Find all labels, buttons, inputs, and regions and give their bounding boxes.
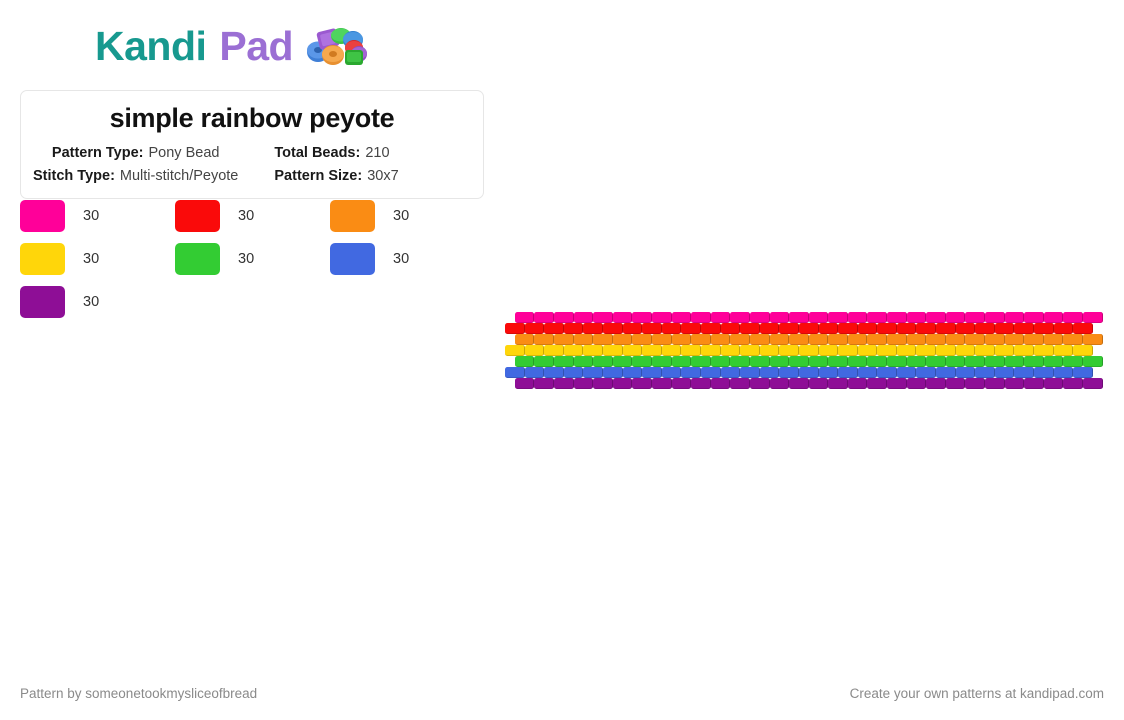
- bead: [1083, 378, 1103, 389]
- bead: [691, 378, 711, 389]
- bead: [632, 356, 652, 367]
- bead: [1063, 356, 1083, 367]
- bead: [730, 356, 750, 367]
- meta-stitch-type-label: Stitch Type:: [33, 168, 115, 184]
- legend-count-pink: 30: [83, 208, 99, 224]
- bead: [936, 323, 956, 334]
- bead: [642, 323, 662, 334]
- bead: [574, 356, 594, 367]
- bead: [936, 345, 956, 356]
- color-swatch-pink: [20, 200, 65, 232]
- bead: [799, 345, 819, 356]
- meta-stitch-type-value: Multi-stitch/Peyote: [120, 168, 238, 184]
- bead: [642, 367, 662, 378]
- bead: [554, 356, 574, 367]
- legend-item-orange: 30: [330, 200, 480, 232]
- bead: [701, 367, 721, 378]
- bead: [985, 356, 1005, 367]
- bead: [809, 334, 829, 345]
- bead: [593, 378, 613, 389]
- bead: [662, 323, 682, 334]
- bead: [721, 323, 741, 334]
- bead: [593, 356, 613, 367]
- bead: [613, 378, 633, 389]
- bead: [730, 378, 750, 389]
- bead: [1063, 312, 1083, 323]
- bead: [985, 378, 1005, 389]
- meta-pattern-size-label: Pattern Size:: [274, 168, 362, 184]
- bead: [1014, 323, 1034, 334]
- bead: [946, 356, 966, 367]
- legend-count-blue: 30: [393, 251, 409, 267]
- bead: [956, 367, 976, 378]
- bead-row: [515, 378, 1103, 389]
- bead: [613, 334, 633, 345]
- bead: [848, 334, 868, 345]
- bead: [662, 367, 682, 378]
- bead: [926, 378, 946, 389]
- bead: [946, 378, 966, 389]
- bead: [1073, 323, 1093, 334]
- bead: [858, 345, 878, 356]
- legend-item-blue: 30: [330, 243, 480, 275]
- bead: [1054, 345, 1074, 356]
- bead: [887, 334, 907, 345]
- bead: [838, 367, 858, 378]
- bead: [828, 312, 848, 323]
- legend-count-orange: 30: [393, 208, 409, 224]
- bead: [770, 334, 790, 345]
- meta-total-beads: Total Beads: 210: [252, 145, 471, 161]
- bead: [887, 312, 907, 323]
- bead: [515, 378, 535, 389]
- bead: [760, 345, 780, 356]
- color-swatch-yellow: [20, 243, 65, 275]
- bead: [730, 312, 750, 323]
- bead: [515, 312, 535, 323]
- bead: [711, 356, 731, 367]
- bead: [907, 334, 927, 345]
- bead: [505, 345, 525, 356]
- bead: [867, 312, 887, 323]
- bead: [505, 367, 525, 378]
- bead: [897, 345, 917, 356]
- bead: [740, 323, 760, 334]
- bead: [691, 356, 711, 367]
- bead: [809, 356, 829, 367]
- bead: [956, 323, 976, 334]
- bead: [1005, 312, 1025, 323]
- bead: [1063, 378, 1083, 389]
- bead: [603, 367, 623, 378]
- bead: [789, 378, 809, 389]
- bead: [995, 367, 1015, 378]
- bead: [1014, 345, 1034, 356]
- bead: [1044, 334, 1064, 345]
- legend-item-yellow: 30: [20, 243, 175, 275]
- bead: [1005, 334, 1025, 345]
- bead: [838, 345, 858, 356]
- bead: [652, 334, 672, 345]
- bead: [711, 312, 731, 323]
- bead: [721, 345, 741, 356]
- bead: [672, 356, 692, 367]
- bead: [544, 345, 564, 356]
- bead: [789, 356, 809, 367]
- bead: [632, 312, 652, 323]
- bead: [1044, 356, 1064, 367]
- bead: [965, 334, 985, 345]
- bead: [858, 323, 878, 334]
- bead: [750, 356, 770, 367]
- bead: [672, 312, 692, 323]
- bead: [789, 312, 809, 323]
- bead: [515, 356, 535, 367]
- bead: [1014, 367, 1034, 378]
- bead: [711, 378, 731, 389]
- footer-promo[interactable]: Create your own patterns at kandipad.com: [850, 686, 1104, 701]
- bead: [652, 312, 672, 323]
- legend-count-green: 30: [238, 251, 254, 267]
- bead: [789, 334, 809, 345]
- bead-row: [505, 323, 1103, 334]
- color-legend: 30303030303030: [20, 200, 480, 318]
- bead: [887, 378, 907, 389]
- bead: [525, 345, 545, 356]
- bead: [632, 378, 652, 389]
- bead: [779, 345, 799, 356]
- bead: [544, 323, 564, 334]
- bead: [1024, 334, 1044, 345]
- bead: [623, 323, 643, 334]
- color-swatch-green: [175, 243, 220, 275]
- bead: [975, 367, 995, 378]
- bead: [916, 367, 936, 378]
- bead: [701, 323, 721, 334]
- bead: [534, 312, 554, 323]
- bead: [867, 378, 887, 389]
- bead: [985, 334, 1005, 345]
- bead: [1024, 378, 1044, 389]
- bead: [691, 334, 711, 345]
- bead: [848, 312, 868, 323]
- legend-count-yellow: 30: [83, 251, 99, 267]
- bead: [858, 367, 878, 378]
- bead: [838, 323, 858, 334]
- bead: [985, 312, 1005, 323]
- bead: [1044, 312, 1064, 323]
- footer-credit: Pattern by someonetookmysliceofbread: [20, 686, 257, 701]
- bead: [574, 378, 594, 389]
- bead: [593, 312, 613, 323]
- bead: [907, 312, 927, 323]
- bead: [907, 356, 927, 367]
- bead-row: [515, 356, 1103, 367]
- meta-stitch-type: Stitch Type: Multi-stitch/Peyote: [33, 168, 252, 184]
- bead: [681, 345, 701, 356]
- bead: [750, 312, 770, 323]
- bead: [975, 345, 995, 356]
- bead: [642, 345, 662, 356]
- color-swatch-purple: [20, 286, 65, 318]
- bead: [809, 378, 829, 389]
- bead-pile-icon: [305, 24, 367, 68]
- bead: [652, 356, 672, 367]
- meta-pattern-size: Pattern Size: 30x7: [252, 168, 471, 184]
- bead: [525, 367, 545, 378]
- bead: [652, 378, 672, 389]
- legend-item-green: 30: [175, 243, 330, 275]
- bead: [1044, 378, 1064, 389]
- bead: [916, 323, 936, 334]
- bead: [867, 334, 887, 345]
- bead: [593, 334, 613, 345]
- bead: [681, 367, 701, 378]
- meta-pattern-type-value: Pony Bead: [149, 145, 220, 161]
- bead: [926, 312, 946, 323]
- bead: [779, 323, 799, 334]
- bead-row: [515, 334, 1103, 345]
- bead-pattern-grid: [505, 312, 1103, 389]
- bead: [819, 367, 839, 378]
- bead: [799, 323, 819, 334]
- bead: [750, 334, 770, 345]
- bead: [564, 345, 584, 356]
- bead: [554, 334, 574, 345]
- meta-pattern-type: Pattern Type: Pony Bead: [33, 145, 252, 161]
- legend-count-red: 30: [238, 208, 254, 224]
- meta-total-beads-value: 210: [365, 145, 389, 161]
- bead-row: [505, 345, 1103, 356]
- bead: [534, 378, 554, 389]
- bead: [564, 323, 584, 334]
- bead: [740, 367, 760, 378]
- bead: [730, 334, 750, 345]
- pattern-meta-grid: Pattern Type: Pony Bead Total Beads: 210…: [33, 145, 471, 184]
- bead: [1054, 367, 1074, 378]
- bead: [603, 345, 623, 356]
- bead: [965, 356, 985, 367]
- bead: [613, 312, 633, 323]
- bead: [691, 312, 711, 323]
- bead: [946, 312, 966, 323]
- logo-text-pad: Pad: [219, 26, 293, 67]
- bead: [750, 378, 770, 389]
- page-footer: Pattern by someonetookmysliceofbread Cre…: [0, 686, 1124, 701]
- bead: [574, 334, 594, 345]
- legend-item-purple: 30: [20, 286, 175, 318]
- app-logo[interactable]: Kandi Pad: [95, 24, 367, 68]
- pattern-page: Kandi Pad simple rainbow peyote: [0, 0, 1124, 720]
- pattern-info-card: simple rainbow peyote Pattern Type: Pony…: [20, 90, 484, 199]
- meta-pattern-type-label: Pattern Type:: [52, 145, 144, 161]
- bead: [623, 345, 643, 356]
- bead: [1083, 312, 1103, 323]
- bead: [554, 312, 574, 323]
- bead: [848, 378, 868, 389]
- bead: [975, 323, 995, 334]
- bead: [515, 334, 535, 345]
- bead: [1024, 356, 1044, 367]
- bead: [583, 345, 603, 356]
- logo-text-kandi: Kandi: [95, 26, 206, 67]
- bead: [926, 334, 946, 345]
- bead: [907, 378, 927, 389]
- bead: [711, 334, 731, 345]
- bead: [681, 323, 701, 334]
- bead: [1073, 345, 1093, 356]
- color-swatch-red: [175, 200, 220, 232]
- meta-pattern-size-value: 30x7: [367, 168, 398, 184]
- bead: [672, 334, 692, 345]
- bead: [828, 356, 848, 367]
- bead: [583, 367, 603, 378]
- bead: [819, 323, 839, 334]
- bead: [877, 323, 897, 334]
- bead: [1083, 356, 1103, 367]
- bead: [672, 378, 692, 389]
- bead: [534, 334, 554, 345]
- bead: [525, 323, 545, 334]
- bead: [534, 356, 554, 367]
- bead: [574, 312, 594, 323]
- bead: [583, 323, 603, 334]
- bead: [662, 345, 682, 356]
- bead: [721, 367, 741, 378]
- bead: [867, 356, 887, 367]
- color-swatch-blue: [330, 243, 375, 275]
- bead: [564, 367, 584, 378]
- bead: [632, 334, 652, 345]
- bead: [760, 323, 780, 334]
- bead: [1073, 367, 1093, 378]
- bead: [505, 323, 525, 334]
- bead: [965, 378, 985, 389]
- bead: [936, 367, 956, 378]
- page-title: simple rainbow peyote: [33, 104, 471, 134]
- bead: [887, 356, 907, 367]
- bead-row: [515, 312, 1103, 323]
- bead: [995, 323, 1015, 334]
- bead: [740, 345, 760, 356]
- bead: [554, 378, 574, 389]
- bead: [603, 323, 623, 334]
- bead: [828, 378, 848, 389]
- bead: [819, 345, 839, 356]
- bead: [965, 312, 985, 323]
- bead: [1063, 334, 1083, 345]
- bead: [770, 312, 790, 323]
- bead: [770, 356, 790, 367]
- bead: [848, 356, 868, 367]
- bead: [623, 367, 643, 378]
- bead: [1005, 378, 1025, 389]
- meta-total-beads-label: Total Beads:: [274, 145, 360, 161]
- bead: [897, 367, 917, 378]
- bead: [1034, 323, 1054, 334]
- bead: [916, 345, 936, 356]
- bead: [544, 367, 564, 378]
- legend-item-red: 30: [175, 200, 330, 232]
- bead: [995, 345, 1015, 356]
- bead: [1034, 345, 1054, 356]
- bead: [701, 345, 721, 356]
- color-swatch-orange: [330, 200, 375, 232]
- bead: [799, 367, 819, 378]
- legend-item-pink: 30: [20, 200, 175, 232]
- bead: [613, 356, 633, 367]
- bead: [946, 334, 966, 345]
- bead: [877, 345, 897, 356]
- bead: [809, 312, 829, 323]
- bead: [1034, 367, 1054, 378]
- bead: [897, 323, 917, 334]
- bead: [1024, 312, 1044, 323]
- bead: [760, 367, 780, 378]
- bead: [1083, 334, 1103, 345]
- bead-row: [505, 367, 1103, 378]
- bead: [956, 345, 976, 356]
- bead: [926, 356, 946, 367]
- bead: [877, 367, 897, 378]
- bead: [779, 367, 799, 378]
- bead: [828, 334, 848, 345]
- bead: [770, 378, 790, 389]
- bead: [1005, 356, 1025, 367]
- legend-count-purple: 30: [83, 294, 99, 310]
- bead: [1054, 323, 1074, 334]
